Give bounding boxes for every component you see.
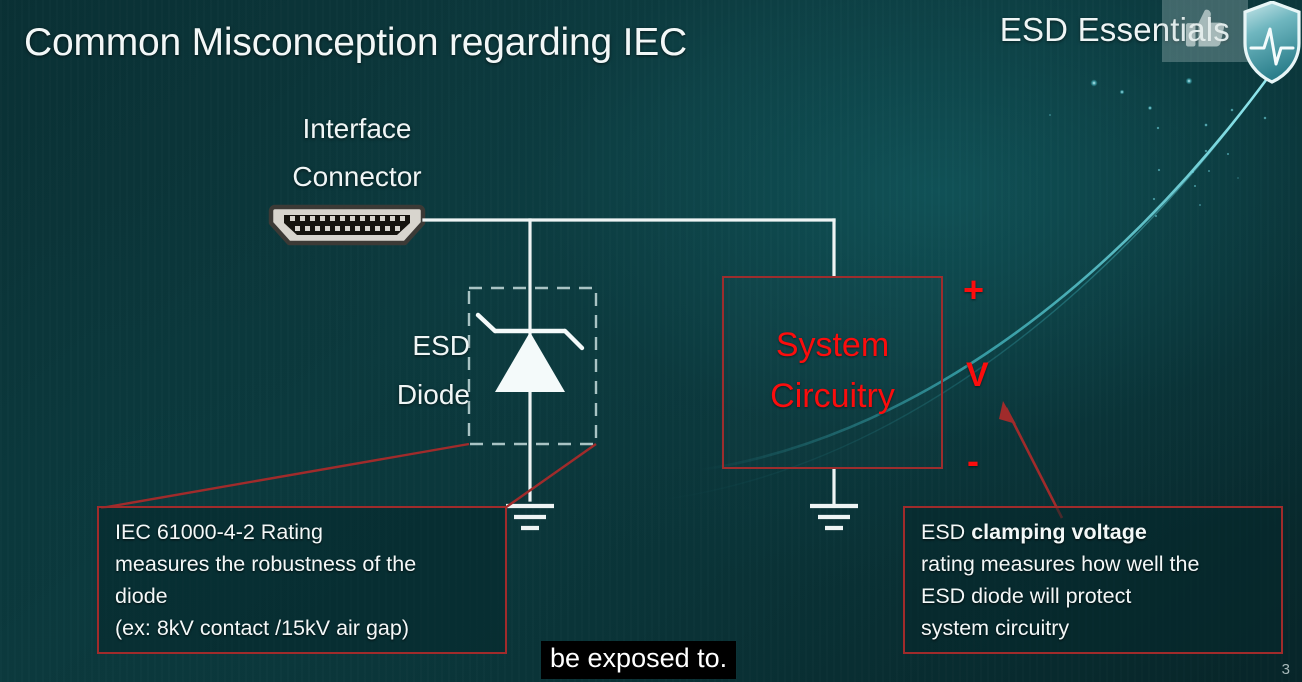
polarity-minus-mark: - (967, 443, 979, 479)
system-label-line2: Circuitry (722, 371, 943, 422)
callout-left-line2: measures the robustness of the (115, 548, 492, 580)
ground-icon-system (810, 506, 858, 528)
diode-label-line2: Diode (336, 371, 470, 420)
esd-diode-label: ESD Diode (336, 322, 470, 419)
diode-label-line1: ESD (336, 322, 470, 371)
callout-iec-rating: IEC 61000-4-2 Rating measures the robust… (97, 506, 507, 654)
voltage-v-mark: V (966, 358, 989, 392)
callout-right-prefix: ESD (921, 520, 971, 544)
system-label-line1: System (722, 320, 943, 371)
page-number: 3 (1282, 661, 1290, 678)
callout-left-line4: (ex: 8kV contact /15kV air gap) (115, 612, 492, 644)
polarity-plus-mark: + (963, 272, 984, 308)
leader-arrow-right (999, 401, 1062, 518)
callout-left-line1: IEC 61000-4-2 Rating (115, 516, 492, 548)
callout-clamping-voltage: ESD clamping voltage rating measures how… (903, 506, 1283, 654)
callout-right-line4: system circuitry (921, 612, 1268, 644)
system-circuitry-label: System Circuitry (722, 320, 943, 422)
ground-icon-diode (506, 506, 554, 528)
video-subtitle: be exposed to. (541, 641, 736, 679)
callout-right-line2: rating measures how well the (921, 548, 1268, 580)
callout-left-line3: diode (115, 580, 492, 612)
callout-right-bold: clamping voltage (971, 520, 1147, 544)
callout-right-line1: ESD clamping voltage (921, 516, 1268, 548)
leader-lines-left (101, 444, 596, 508)
slide-canvas: Common Misconception regarding IEC ESD E… (0, 0, 1302, 682)
callout-right-line3: ESD diode will protect (921, 580, 1268, 612)
